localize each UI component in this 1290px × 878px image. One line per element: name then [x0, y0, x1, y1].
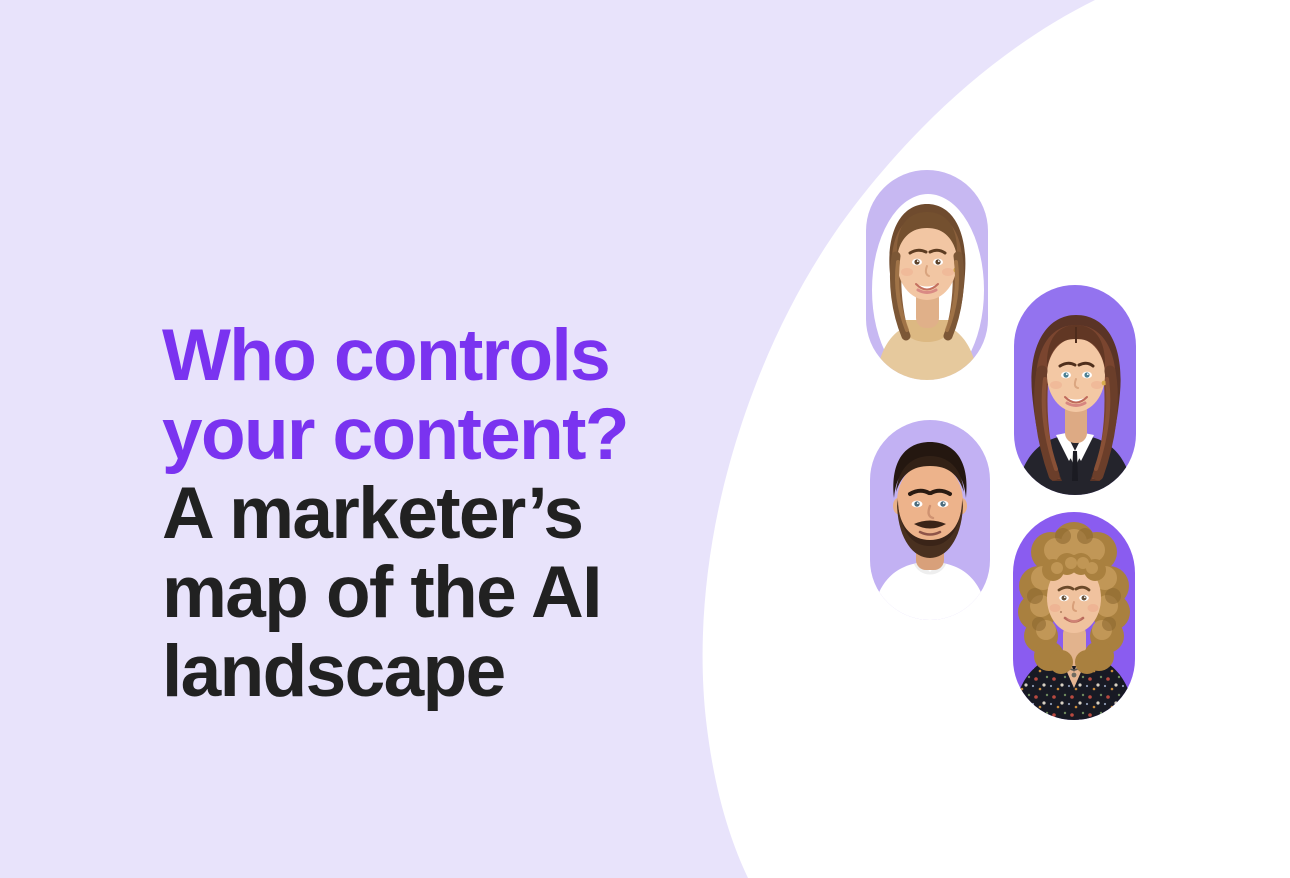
avatar-portrait-1: Smiling woman with long wavy brown hair …	[866, 170, 988, 380]
thumbs-up-icon	[1036, 192, 1108, 254]
avatar-4-pill	[1013, 512, 1135, 720]
headline-line-1: Who controls	[162, 316, 762, 395]
avatar-3-photo	[870, 420, 990, 620]
avatar-1-pill	[866, 170, 988, 380]
avatar-2-pill	[1014, 285, 1136, 495]
headline-line-2: your content?	[162, 395, 762, 474]
headline-line-3: A marketer’s	[162, 474, 762, 553]
avatar-2-photo	[1014, 285, 1136, 495]
headline-line-5: landscape	[162, 632, 762, 711]
headline-line-4: map of the AI	[162, 553, 762, 632]
avatar-portrait-4: Smiling woman with curly blonde hair wea…	[1013, 512, 1135, 720]
avatar-4-photo	[1013, 512, 1135, 720]
avatar-portrait-3: Bearded man with dark hair wearing a whi…	[870, 420, 990, 620]
avatar-3-pill	[870, 420, 990, 620]
avatar-1-photo	[866, 170, 988, 380]
avatar-portrait-2: Smiling young woman with long auburn hai…	[1014, 285, 1136, 495]
page-title: Who controls your content? A marketer’s …	[162, 316, 762, 711]
swirl-flourish-icon	[901, 634, 963, 678]
hero-banner: Who controls your content? A marketer’s …	[0, 0, 1290, 878]
